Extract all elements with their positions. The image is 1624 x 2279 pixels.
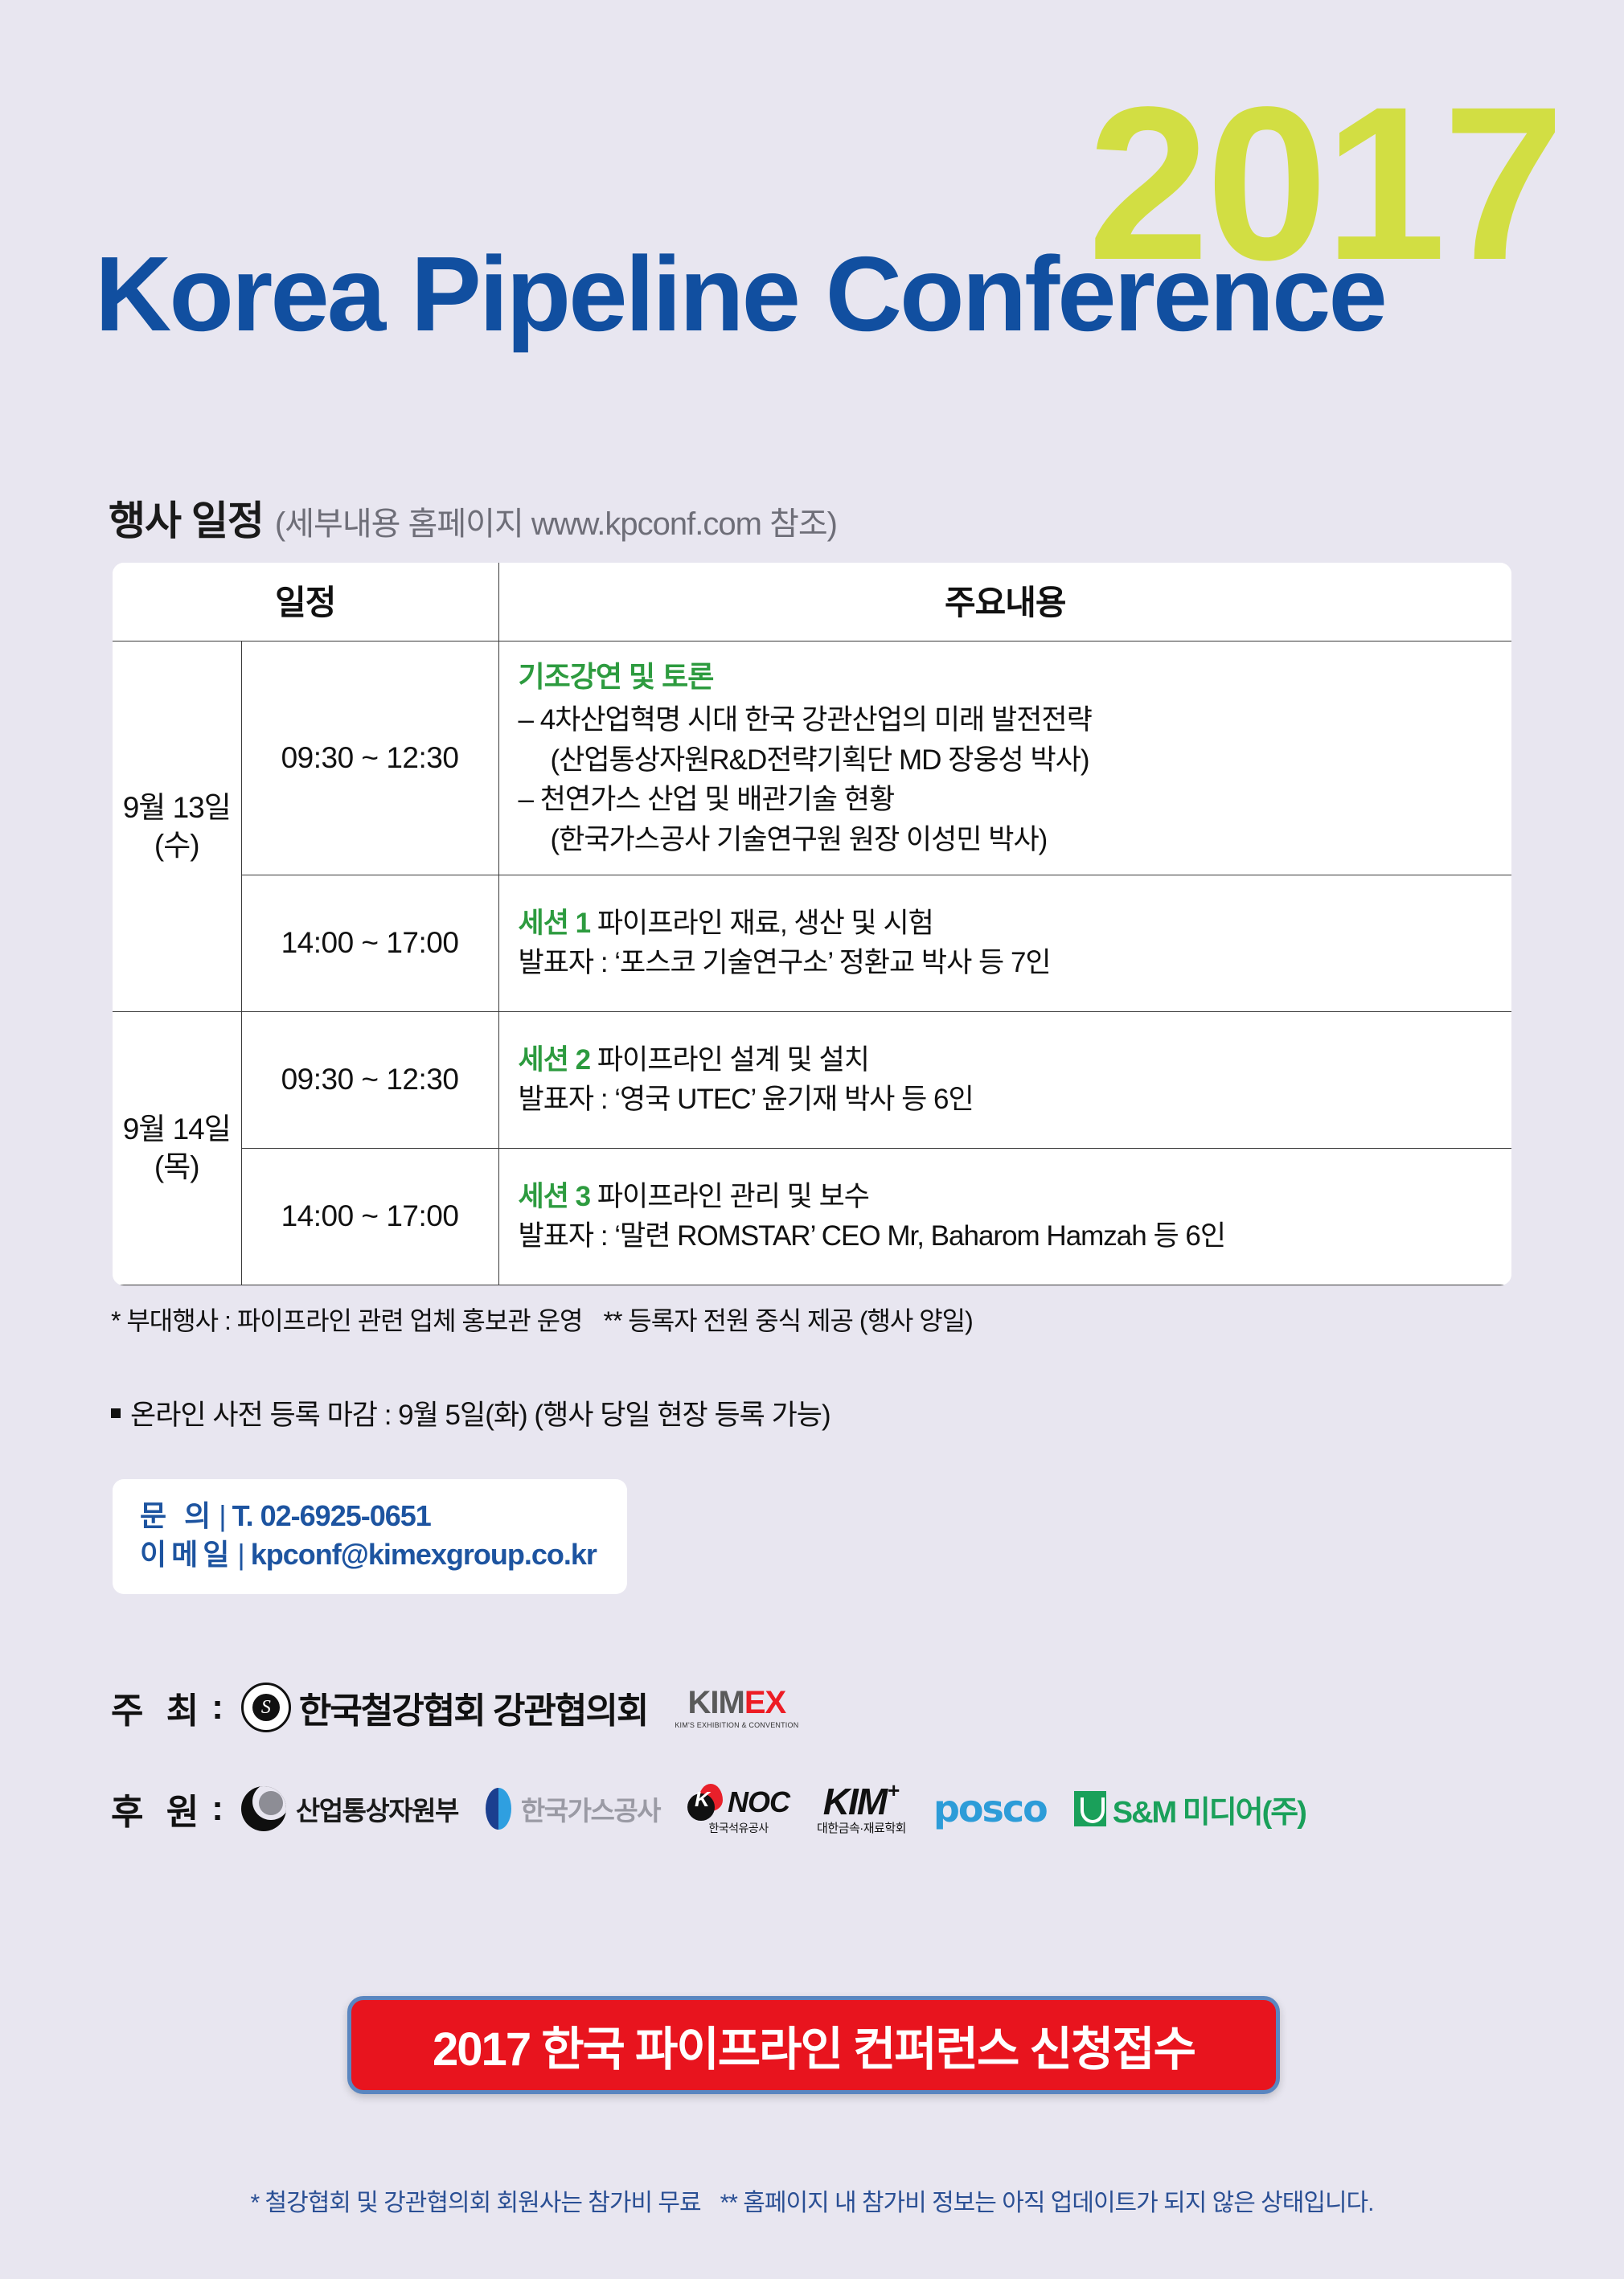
schedule-heading-sub: (세부내용 홈페이지 www.kpconf.com 참조) (275, 498, 837, 544)
session-2-title: 파이프라인 설계 및 설치 (597, 1044, 869, 1076)
keynote-item-2-detail: (한국가스공사 기술연구원 원장 이성민 박사) (519, 820, 1499, 860)
registration-cta-button[interactable]: 2017 한국 파이프라인 컨퍼런스 신청접수 (347, 1996, 1280, 2094)
host-colon: : (211, 1687, 224, 1728)
contact-phone-value[interactable]: T. 02-6925-0651 (232, 1499, 431, 1532)
keynote-label: 기조강연 및 토론 (519, 656, 1499, 697)
table-row: 14:00 ~ 17:00 세션 1 파이프라인 재료, 생산 및 시험 발표자… (113, 875, 1511, 1011)
contact-box: 문 의|T. 02-6925-0651 이메일|kpconf@kimexgrou… (113, 1479, 627, 1594)
kim-logo-icon: KIM (823, 1783, 886, 1820)
contact-separator: | (215, 1499, 232, 1532)
session-1-label: 세션 1 (519, 908, 591, 939)
registration-deadline-text: 온라인 사전 등록 마감 : 9월 5일(화) (행사 당일 현장 등록 가능) (130, 1392, 830, 1433)
keynote-item-1: – 4차산업혁명 시대 한국 강관산업의 미래 발전전략 (519, 700, 1499, 740)
sponsor-logo-posco: posco (933, 1787, 1047, 1830)
cell-time-0: 09:30 ~ 12:30 (241, 641, 498, 875)
table-row: 9월 14일 (목) 09:30 ~ 12:30 세션 2 파이프라인 설계 및… (113, 1011, 1511, 1148)
sm-media-logo-icon (1074, 1791, 1106, 1826)
schedule-heading-main: 행사 일정 (109, 489, 264, 547)
page-title: Korea Pipeline Conference (95, 241, 1385, 347)
knoc-logo-text: NOC (728, 1788, 789, 1817)
kimex-logo-icon: KIMEX (688, 1687, 786, 1719)
contact-phone-row: 문 의|T. 02-6925-0651 (140, 1497, 603, 1535)
session-1-presenter: 발표자 : ‘포스코 기술연구소’ 정환교 박사 등 7인 (519, 943, 1499, 983)
session-2-title-line: 세션 2 파이프라인 설계 및 설치 (519, 1040, 1499, 1080)
kisa-seal-icon (241, 1683, 291, 1732)
table-header-row: 일정 주요내용 (113, 563, 1511, 641)
schedule-table-head: 일정 주요내용 (113, 563, 1511, 641)
date-line-1: 9월 13일 (123, 791, 231, 824)
sm-media-logo-text: S&M 미디어(주) (1113, 1787, 1306, 1831)
cell-date-sep13: 9월 13일 (수) (113, 641, 241, 1012)
session-3-presenter: 발표자 : ‘말련 ROMSTAR’ CEO Mr, Baharom Hamza… (519, 1216, 1499, 1256)
cell-content-3: 세션 3 파이프라인 관리 및 보수 발표자 : ‘말련 ROMSTAR’ CE… (498, 1148, 1511, 1285)
footer-note-2: ** 홈페이지 내 참가비 정보는 아직 업데이트가 되지 않은 상태입니다. (720, 2190, 1374, 2216)
schedule-table: 일정 주요내용 9월 13일 (수) 09:30 ~ 12:30 기조강연 및 … (113, 563, 1511, 1285)
knoc-logo-icon: K (687, 1784, 724, 1821)
kisa-logo-text: 한국철강협회 강관협의회 (299, 1682, 648, 1733)
side-event-note-2: ** 등록자 전원 중식 제공 (행사 양일) (604, 1306, 973, 1335)
motie-taegeuk-icon (241, 1786, 286, 1831)
cell-time-3: 14:00 ~ 17:00 (241, 1148, 498, 1285)
square-bullet-icon (111, 1408, 121, 1418)
contact-email-label: 이메일 (140, 1538, 234, 1571)
posco-logo-icon: posco (933, 1787, 1047, 1830)
keynote-item-2: – 천연가스 산업 및 배관기술 현황 (519, 780, 1499, 820)
sponsor-logo-kogas: 한국가스공사 (486, 1788, 660, 1830)
host-logo-kimex: KIMEX KIM'S EXHIBITION & CONVENTION (675, 1687, 798, 1729)
sponsor-logo-kim: KIM + 대한금속·재료학회 (817, 1783, 906, 1834)
host-logo-kisa: 한국철강협회 강관협의회 (241, 1682, 648, 1733)
column-header-content: 주요내용 (498, 563, 1511, 641)
kogas-logo-icon (486, 1788, 511, 1830)
contact-phone-label: 문 의 (140, 1499, 215, 1532)
kim-logo-sub: 대한금속·재료학회 (817, 1822, 906, 1834)
kimex-text-part2: EX (744, 1685, 785, 1720)
table-row: 9월 13일 (수) 09:30 ~ 12:30 기조강연 및 토론 – 4차산… (113, 641, 1511, 875)
schedule-table-container: 일정 주요내용 9월 13일 (수) 09:30 ~ 12:30 기조강연 및 … (113, 563, 1511, 1285)
keynote-item-1-detail: (산업통상자원R&D전략기획단 MD 장웅성 박사) (519, 740, 1499, 781)
sponsor-logo-motie: 산업통상자원부 (241, 1786, 458, 1831)
session-2-presenter: 발표자 : ‘영국 UTEC’ 윤기재 박사 등 6인 (519, 1080, 1499, 1120)
cell-time-1: 14:00 ~ 17:00 (241, 875, 498, 1011)
date-line-1: 9월 14일 (123, 1113, 231, 1146)
poster-header: 2017 Korea Pipeline Conference (0, 0, 1624, 418)
sponsor-colon: : (211, 1789, 224, 1829)
kim-plus-icon: + (888, 1780, 900, 1801)
session-1-title-line: 세션 1 파이프라인 재료, 생산 및 시험 (519, 904, 1499, 944)
session-3-title: 파이프라인 관리 및 보수 (597, 1181, 869, 1212)
date-line-2: (목) (154, 1150, 199, 1183)
cell-date-sep14: 9월 14일 (목) (113, 1011, 241, 1285)
session-2-label: 세션 2 (519, 1044, 591, 1076)
knoc-k-letter: K (695, 1789, 710, 1810)
table-row: 14:00 ~ 17:00 세션 3 파이프라인 관리 및 보수 발표자 : ‘… (113, 1148, 1511, 1285)
kim-logo-top: KIM + (823, 1783, 900, 1820)
sponsor-logo-sm-media: S&M 미디어(주) (1074, 1787, 1306, 1831)
date-line-2: (수) (154, 829, 199, 862)
cell-time-2: 09:30 ~ 12:30 (241, 1011, 498, 1148)
sponsor-row: 후 원 : 산업통상자원부 한국가스공사 K NOC 한국석유공사 KIM + … (111, 1783, 1333, 1834)
session-1-title: 파이프라인 재료, 생산 및 시험 (597, 908, 933, 939)
footer-note-1: * 철강협회 및 강관협의회 회원사는 참가비 무료 (251, 2190, 701, 2216)
registration-cta-label: 2017 한국 파이프라인 컨퍼런스 신청접수 (433, 2011, 1195, 2079)
kimex-text-part1: KIM (688, 1685, 744, 1720)
cell-content-1: 세션 1 파이프라인 재료, 생산 및 시험 발표자 : ‘포스코 기술연구소’… (498, 875, 1511, 1011)
session-3-label: 세션 3 (519, 1181, 591, 1212)
host-row: 주 최 : 한국철강협회 강관협의회 KIMEX KIM'S EXHIBITIO… (111, 1682, 826, 1733)
knoc-logo-sub: 한국석유공사 (708, 1822, 768, 1834)
contact-email-row: 이메일|kpconf@kimexgroup.co.kr (140, 1535, 603, 1574)
motie-logo-text: 산업통상자원부 (296, 1789, 458, 1828)
sponsor-label: 후 원 (111, 1783, 205, 1834)
column-header-date: 일정 (113, 563, 498, 641)
kogas-logo-text: 한국가스공사 (521, 1789, 660, 1828)
contact-email-value[interactable]: kpconf@kimexgroup.co.kr (251, 1538, 597, 1571)
sponsor-logo-knoc: K NOC 한국석유공사 (687, 1784, 789, 1834)
cell-content-0: 기조강연 및 토론 – 4차산업혁명 시대 한국 강관산업의 미래 발전전략 (… (498, 641, 1511, 875)
contact-separator: | (234, 1538, 250, 1571)
schedule-table-body: 9월 13일 (수) 09:30 ~ 12:30 기조강연 및 토론 – 4차산… (113, 641, 1511, 1285)
knoc-logo-top: K NOC (687, 1784, 789, 1821)
cell-content-2: 세션 2 파이프라인 설계 및 설치 발표자 : ‘영국 UTEC’ 윤기재 박… (498, 1011, 1511, 1148)
side-event-note: * 부대행사 : 파이프라인 관련 업체 홍보관 운영** 등록자 전원 중식 … (111, 1301, 973, 1338)
registration-deadline-note: 온라인 사전 등록 마감 : 9월 5일(화) (행사 당일 현장 등록 가능) (111, 1392, 830, 1433)
kimex-tagline: KIM'S EXHIBITION & CONVENTION (675, 1722, 798, 1729)
footer-note: * 철강협회 및 강관협의회 회원사는 참가비 무료** 홈페이지 내 참가비 … (0, 2183, 1624, 2218)
host-label: 주 최 (111, 1682, 205, 1733)
side-event-note-1: * 부대행사 : 파이프라인 관련 업체 홍보관 운영 (111, 1306, 583, 1335)
schedule-heading: 행사 일정 (세부내용 홈페이지 www.kpconf.com 참조) (109, 489, 837, 547)
session-3-title-line: 세션 3 파이프라인 관리 및 보수 (519, 1177, 1499, 1217)
